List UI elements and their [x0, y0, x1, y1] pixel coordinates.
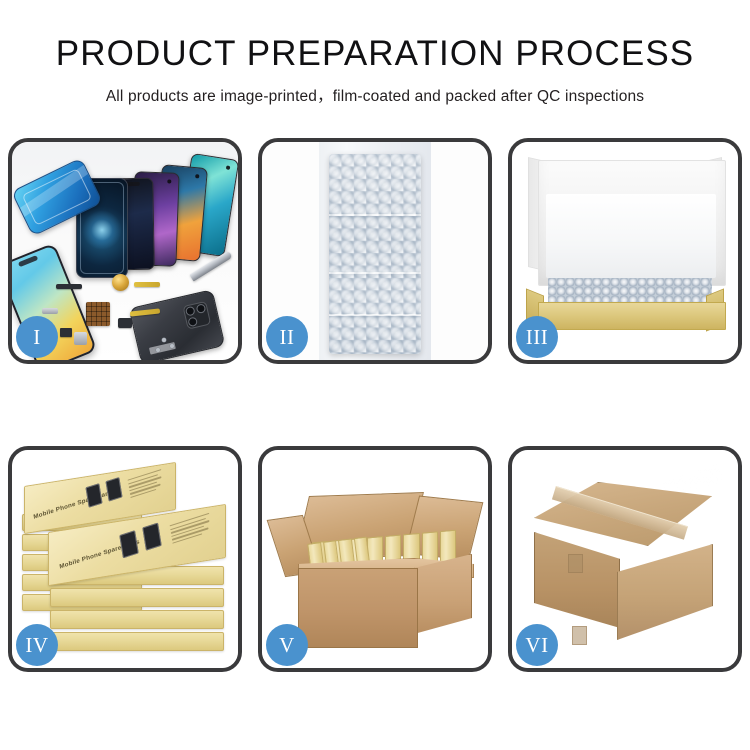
- panel-bubble-wrapped-item: II: [258, 138, 492, 364]
- phone-screen-print-icon: [119, 530, 139, 558]
- retail-box-label: Mobile Phone Spare Parts: [33, 489, 114, 521]
- header: PRODUCT PREPARATION PROCESS All products…: [0, 0, 750, 106]
- chip-part-icon: [86, 302, 110, 326]
- bracket-part-icon: [42, 308, 58, 314]
- tape-tab: [568, 554, 583, 573]
- phone-screen-print-icon: [105, 477, 122, 502]
- panel-raw-products: I: [8, 138, 242, 364]
- retail-box-edge: [50, 610, 224, 629]
- panel-stacked-retail-boxes: Mobile Phone Spare Parts Mobile: [8, 446, 242, 672]
- panel-badge-2: II: [266, 316, 308, 358]
- panel-badge-4: IV: [16, 624, 58, 666]
- carton-front-panel: [298, 568, 418, 648]
- foam-insert-icon: [546, 194, 716, 278]
- retail-box-edge: [50, 588, 224, 607]
- connector-part-icon: [118, 318, 132, 328]
- phone-screen-print-icon: [142, 523, 162, 551]
- battery-connector-icon: [74, 332, 87, 345]
- tape-tab: [572, 626, 587, 645]
- retail-box-spec-lines: [170, 512, 217, 546]
- flex-cable-icon: [134, 282, 160, 287]
- bubble-wrap-icon: [329, 154, 421, 354]
- process-panel-grid: I II: [8, 138, 742, 672]
- box-base-icon: [538, 302, 726, 330]
- screw-icon: [170, 344, 174, 348]
- retail-box-spec-lines: [128, 468, 169, 501]
- panel-open-shipping-carton: V: [258, 446, 492, 672]
- panel-badge-1: I: [16, 316, 58, 358]
- screw-icon: [156, 348, 160, 352]
- screw-icon: [162, 338, 166, 342]
- coil-part-icon: [112, 274, 129, 291]
- panel-badge-6: VI: [516, 624, 558, 666]
- panel-badge-5: V: [266, 624, 308, 666]
- panel-open-retail-box: III: [508, 138, 742, 364]
- page-title: PRODUCT PREPARATION PROCESS: [0, 0, 750, 73]
- page-subtitle: All products are image-printed，film-coat…: [0, 73, 750, 106]
- panel-sealed-shipping-carton: VI: [508, 446, 742, 672]
- infographic-page: PRODUCT PREPARATION PROCESS All products…: [0, 0, 750, 750]
- bubble-wrap-icon: [548, 278, 712, 304]
- connector-part-icon: [60, 328, 72, 337]
- connector-part-icon: [56, 284, 82, 289]
- retail-box-edge: [50, 632, 224, 651]
- panel-badge-3: III: [516, 316, 558, 358]
- phone-screen-print-icon: [85, 483, 102, 508]
